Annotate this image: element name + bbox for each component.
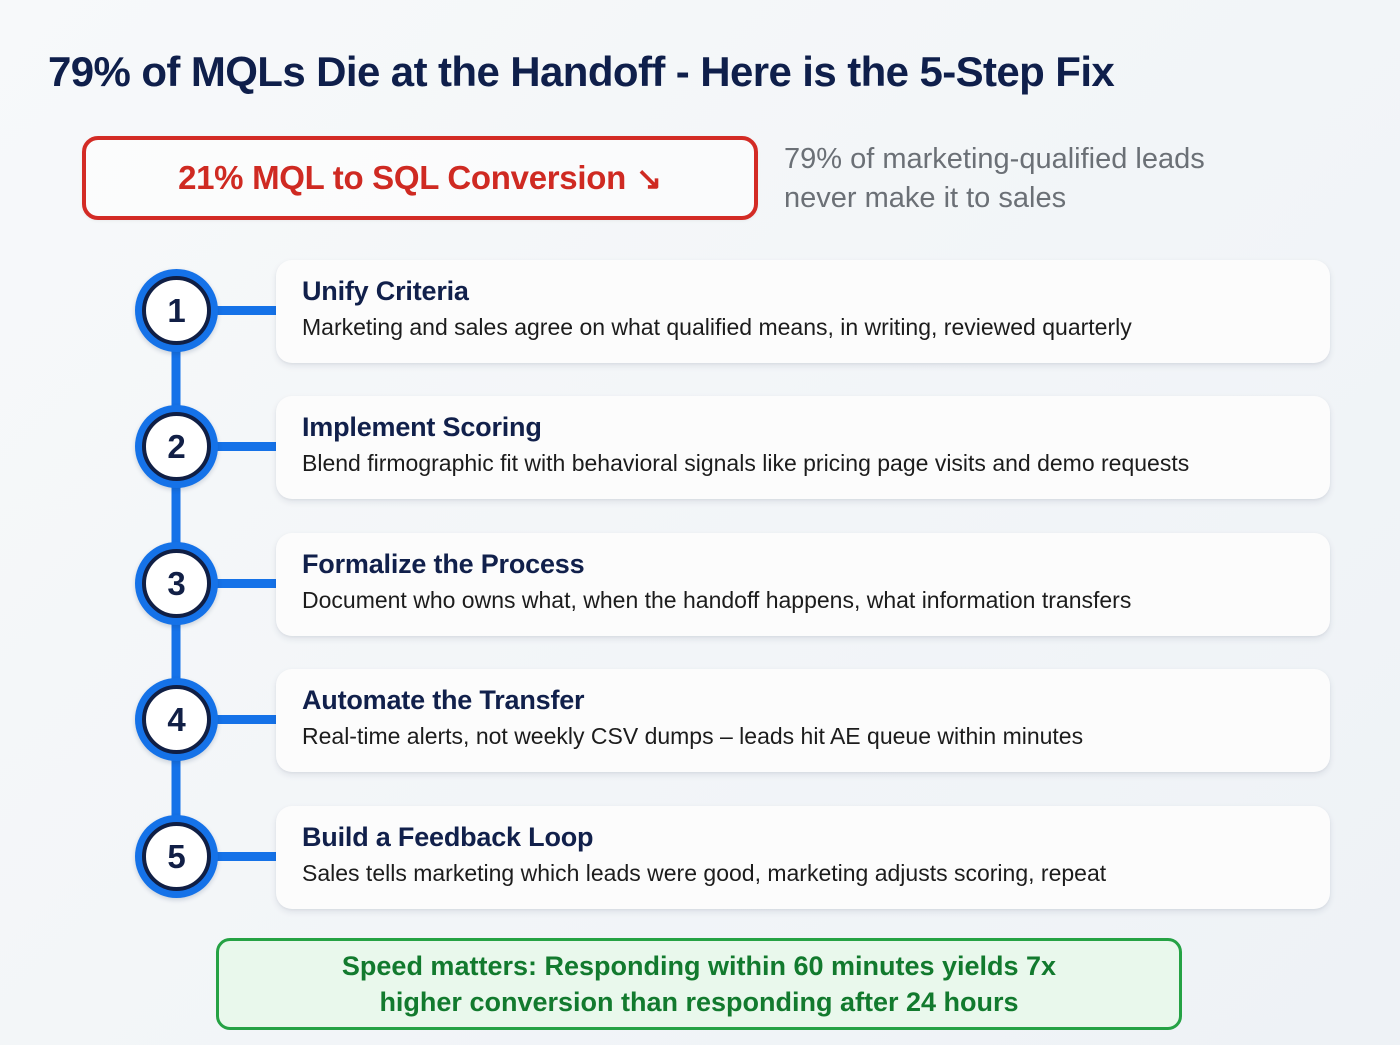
step-card: Unify Criteria Marketing and sales agree… <box>276 260 1330 363</box>
speed-callout-line-1: Speed matters: Responding within 60 minu… <box>342 948 1056 984</box>
speed-callout-line-2: higher conversion than responding after … <box>342 984 1056 1020</box>
subtitle-line-1: 79% of marketing-qualified leads <box>784 140 1344 179</box>
infographic-root: 79% of MQLs Die at the Handoff - Here is… <box>0 0 1400 1045</box>
step-number-label: 1 <box>167 294 185 327</box>
step-number-circle: 2 <box>142 412 211 481</box>
step-item: 3 Formalize the Process Document who own… <box>0 533 1400 636</box>
step-card: Build a Feedback Loop Sales tells market… <box>276 806 1330 909</box>
arrow-down-right-icon: ↘ <box>636 163 662 194</box>
step-number-circle: 3 <box>142 549 211 618</box>
step-number-badge: 4 <box>135 678 218 761</box>
step-number-circle: 4 <box>142 685 211 754</box>
steps-list: 1 Unify Criteria Marketing and sales agr… <box>0 252 1400 912</box>
subtitle: 79% of marketing-qualified leads never m… <box>784 140 1344 217</box>
speed-callout-text: Speed matters: Responding within 60 minu… <box>342 948 1056 1020</box>
step-title: Formalize the Process <box>302 549 1304 580</box>
step-number-badge: 5 <box>135 815 218 898</box>
step-number-circle: 5 <box>142 822 211 891</box>
step-number-label: 3 <box>167 567 185 600</box>
step-description: Blend firmographic fit with behavioral s… <box>302 450 1304 478</box>
step-number-label: 2 <box>167 430 185 463</box>
step-item: 2 Implement Scoring Blend firmographic f… <box>0 396 1400 499</box>
step-item: 1 Unify Criteria Marketing and sales agr… <box>0 260 1400 363</box>
subtitle-line-2: never make it to sales <box>784 179 1344 218</box>
speed-callout-banner: Speed matters: Responding within 60 minu… <box>216 938 1182 1030</box>
step-number-badge: 3 <box>135 542 218 625</box>
step-title: Automate the Transfer <box>302 685 1304 716</box>
step-description: Real-time alerts, not weekly CSV dumps –… <box>302 723 1304 751</box>
conversion-stat-badge: 21% MQL to SQL Conversion ↘ <box>82 136 758 220</box>
step-description: Marketing and sales agree on what qualif… <box>302 314 1304 342</box>
step-item: 4 Automate the Transfer Real-time alerts… <box>0 669 1400 772</box>
step-number-circle: 1 <box>142 276 211 345</box>
conversion-stat-label: 21% MQL to SQL Conversion <box>178 159 626 197</box>
step-description: Sales tells marketing which leads were g… <box>302 860 1304 888</box>
step-card: Implement Scoring Blend firmographic fit… <box>276 396 1330 499</box>
step-card: Automate the Transfer Real-time alerts, … <box>276 669 1330 772</box>
step-item: 5 Build a Feedback Loop Sales tells mark… <box>0 806 1400 909</box>
step-title: Unify Criteria <box>302 276 1304 307</box>
step-number-label: 4 <box>167 703 185 736</box>
page-title: 79% of MQLs Die at the Handoff - Here is… <box>48 48 1368 95</box>
step-title: Implement Scoring <box>302 412 1304 443</box>
step-number-badge: 1 <box>135 269 218 352</box>
step-number-badge: 2 <box>135 405 218 488</box>
step-number-label: 5 <box>167 840 185 873</box>
step-description: Document who owns what, when the handoff… <box>302 587 1304 615</box>
step-title: Build a Feedback Loop <box>302 822 1304 853</box>
step-card: Formalize the Process Document who owns … <box>276 533 1330 636</box>
